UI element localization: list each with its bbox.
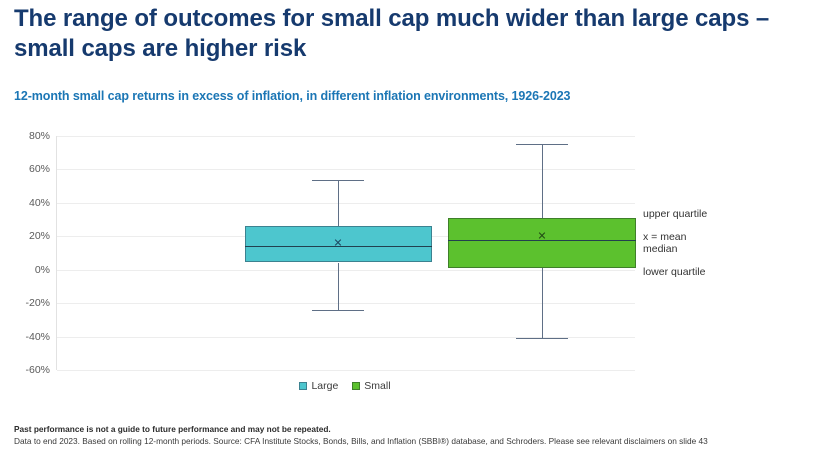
chart-subtitle: 12-month small cap returns in excess of … xyxy=(14,89,714,103)
annotation-median: median xyxy=(643,243,677,255)
y-axis-labels: 80% 60% 40% 20% 0% -20% -40% -60% xyxy=(0,136,50,370)
whisker-cap-small-upper xyxy=(516,144,568,145)
whisker-cap-large-lower xyxy=(312,310,364,311)
whisker-cap-large-upper xyxy=(312,180,364,181)
whisker-small-lower xyxy=(542,268,543,338)
box-small[interactable] xyxy=(448,218,636,268)
gridline xyxy=(57,370,635,371)
page-title: The range of outcomes for small cap much… xyxy=(14,4,826,64)
mean-marker-large: ✕ xyxy=(333,239,342,250)
y-tick-label: 40% xyxy=(0,197,50,209)
legend-label: Large xyxy=(311,380,338,392)
annotation-lower-quartile: lower quartile xyxy=(643,266,705,278)
y-tick-label: -40% xyxy=(0,331,50,343)
footer-disclaimer: Past performance is not a guide to futur… xyxy=(14,424,826,435)
y-tick-label: -20% xyxy=(0,297,50,309)
annotation-upper-quartile: upper quartile xyxy=(643,208,707,220)
box-plot-chart: 80% 60% 40% 20% 0% -20% -40% -60% xyxy=(0,118,839,408)
footer: Past performance is not a guide to futur… xyxy=(14,424,826,447)
legend-swatch-icon xyxy=(352,382,360,390)
gridline xyxy=(57,203,635,204)
slide: The range of outcomes for small cap much… xyxy=(0,0,839,450)
y-tick-label: 0% xyxy=(0,264,50,276)
gridline xyxy=(57,136,635,137)
plot-area: ✕ ✕ xyxy=(56,136,634,370)
whisker-large-lower xyxy=(338,263,339,310)
whisker-small-upper xyxy=(542,144,543,218)
legend-item-small[interactable]: Small xyxy=(352,380,390,392)
legend-label: Small xyxy=(364,380,390,392)
chart-legend: Large Small xyxy=(0,380,690,392)
legend-item-large[interactable]: Large xyxy=(299,380,338,392)
footer-source: Data to end 2023. Based on rolling 12-mo… xyxy=(14,435,826,447)
whisker-large-upper xyxy=(338,180,339,226)
mean-marker-small: ✕ xyxy=(537,232,546,243)
gridline xyxy=(57,169,635,170)
y-tick-label: 80% xyxy=(0,130,50,142)
whisker-cap-small-lower xyxy=(516,338,568,339)
gridline xyxy=(57,303,635,304)
annotation-mean: x = mean xyxy=(643,231,686,243)
gridline xyxy=(57,270,635,271)
y-tick-label: -60% xyxy=(0,364,50,376)
legend-swatch-icon xyxy=(299,382,307,390)
y-tick-label: 60% xyxy=(0,163,50,175)
y-tick-label: 20% xyxy=(0,230,50,242)
